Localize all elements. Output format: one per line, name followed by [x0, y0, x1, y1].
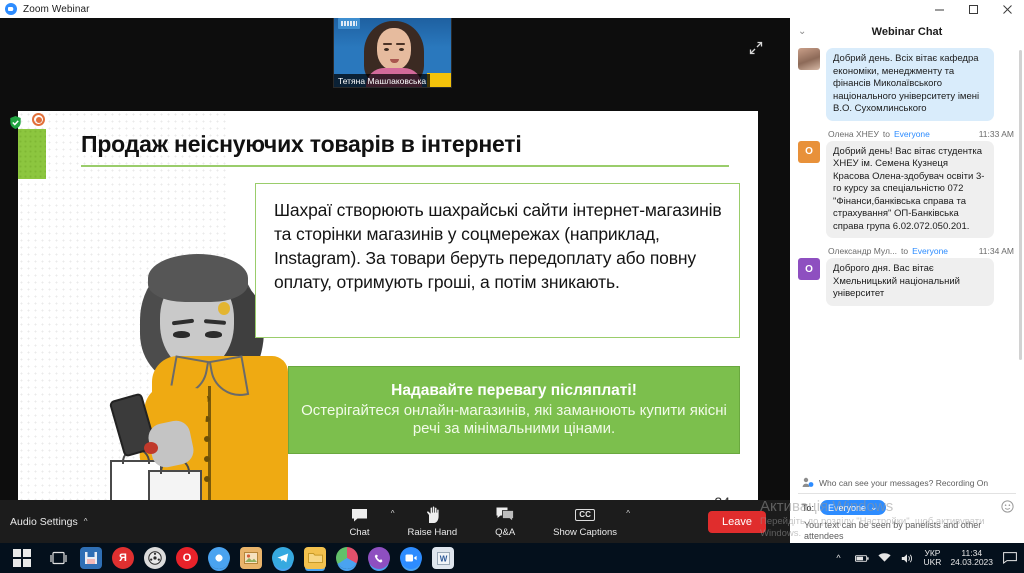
- show-captions-button[interactable]: CC Show Captions ^: [553, 506, 617, 538]
- clock[interactable]: 11:34 24.03.2023: [950, 549, 993, 568]
- chat-message: О Доброго дня. Вас вітає Хмельницький на…: [798, 258, 1014, 306]
- chat-recipient: Everyone: [912, 246, 948, 256]
- opera-browser-icon[interactable]: O: [176, 547, 198, 569]
- window-title: Zoom Webinar: [23, 4, 90, 15]
- recipient-selector[interactable]: Everyone ⌄: [820, 500, 886, 515]
- taskbar-app-icons: Я O: [48, 547, 454, 569]
- slide-body-box: Шахраї створюють шахрайські сайти інтерн…: [255, 183, 740, 338]
- chat-message: О Добрий день! Вас вітає студентка ХНЕУ …: [798, 141, 1014, 239]
- raise-hand-icon: [425, 506, 440, 525]
- avatar: О: [798, 258, 820, 280]
- close-icon[interactable]: [990, 0, 1024, 18]
- presenter-face: [377, 28, 411, 70]
- yandex-browser-icon[interactable]: Я: [112, 547, 134, 569]
- chevron-up-icon: ^: [84, 517, 88, 526]
- callout-heading: Надавайте перевагу післяплаті!: [391, 382, 637, 401]
- chevron-down-icon: ⌄: [870, 502, 878, 513]
- callout-text: Остерігайтеся онлайн-магазинів, які зама…: [299, 402, 729, 439]
- presenter-name-label: Тетяна Машлаковська: [334, 74, 430, 87]
- chevron-up-icon[interactable]: ^: [626, 509, 630, 518]
- chat-message-text: Доброго дня. Вас вітає Хмельницький наці…: [826, 258, 994, 306]
- chat-recipient-row: To: Everyone ⌄: [790, 494, 1024, 518]
- chat-bubble-icon: [351, 506, 368, 525]
- video-corner-accent: [427, 73, 451, 87]
- chat-header: ⌄ Webinar Chat: [790, 18, 1024, 46]
- volume-icon[interactable]: [901, 553, 915, 564]
- raise-hand-button[interactable]: Raise Hand: [407, 506, 457, 538]
- floppy-save-icon[interactable]: [80, 547, 102, 569]
- chat-message-meta: Олександр Мул... to Everyone 11:34 AM: [828, 246, 1014, 256]
- telegram-app-icon[interactable]: [272, 547, 294, 569]
- notification-icon[interactable]: [1002, 552, 1018, 564]
- chat-recipient: Everyone: [894, 129, 930, 139]
- chat-timestamp: 11:33 AM: [979, 129, 1014, 139]
- window-controls: [922, 0, 1024, 18]
- closed-captions-icon: CC: [575, 506, 595, 525]
- chat-timestamp: 11:34 AM: [979, 246, 1014, 256]
- chevron-down-icon[interactable]: ⌄: [798, 26, 806, 37]
- toolbar-center-group: Chat ^ Raise Hand: [337, 506, 617, 538]
- chat-to-word: to: [883, 129, 890, 139]
- zoom-webinar-window: Zoom Webinar You are viewing Тетяна Машл…: [0, 0, 1024, 573]
- qa-label: Q&A: [495, 527, 515, 538]
- maximize-icon[interactable]: [956, 0, 990, 18]
- chat-to-word: to: [901, 246, 908, 256]
- svg-text:W: W: [439, 554, 447, 563]
- corner-logo-icon: [338, 18, 360, 29]
- system-tray: ^ УКР: [832, 549, 1024, 568]
- chat-input-hint[interactable]: Your text can be seen by panelists and o…: [790, 518, 1024, 543]
- chat-button-label: Chat: [349, 527, 369, 538]
- slide-body-text: Шахраї створюють шахрайські сайти інтерн…: [274, 198, 723, 295]
- leave-button[interactable]: Leave: [708, 511, 766, 533]
- qa-bubbles-icon: [496, 506, 514, 525]
- emoji-smiley-icon[interactable]: [1001, 500, 1014, 516]
- qa-button[interactable]: Q&A: [483, 506, 527, 538]
- recording-notice-row[interactable]: Who can see your messages? Recording On: [790, 473, 1024, 493]
- meeting-toolbar: Audio Settings ^ Chat ^: [0, 500, 790, 543]
- windows-start-icon[interactable]: [0, 543, 44, 573]
- task-view-icon[interactable]: [48, 547, 70, 569]
- chat-message: Добрий день. Всіх вітає кафедра економік…: [798, 48, 1014, 121]
- avatar: О: [798, 141, 820, 163]
- chat-button[interactable]: Chat ^: [337, 506, 381, 538]
- chat-panel-title: Webinar Chat: [790, 26, 1024, 38]
- language-indicator[interactable]: УКР UKR: [924, 549, 942, 568]
- chat-scrollbar[interactable]: [1019, 50, 1022, 360]
- slide-callout-box: Надавайте перевагу післяплаті! Остерігай…: [288, 366, 740, 454]
- chevron-up-icon[interactable]: ^: [391, 509, 395, 518]
- share-secure-shield-icon: [8, 115, 23, 130]
- recipient-value: Everyone: [828, 503, 866, 513]
- raise-hand-label: Raise Hand: [407, 527, 457, 538]
- windows-taskbar: Я O: [0, 543, 1024, 573]
- chat-message-meta: Олена ХНЕУ to Everyone 11:33 AM: [828, 129, 1014, 139]
- lang-line-2: UKR: [924, 557, 942, 567]
- clock-date: 24.03.2023: [950, 557, 993, 567]
- tray-chevron-up-icon[interactable]: ^: [832, 553, 846, 563]
- webinar-chat-panel: ⌄ Webinar Chat Добрий день. Всіх вітає к…: [790, 18, 1024, 543]
- chat-message-text: Добрий день! Вас вітає студентка ХНЕУ ім…: [826, 141, 994, 239]
- zoom-logo-icon: [5, 3, 17, 15]
- window-titlebar: Zoom Webinar: [0, 0, 1024, 18]
- shared-slide: Продаж неіснуючих товарів в інтернеті: [18, 111, 758, 518]
- battery-icon[interactable]: [855, 554, 869, 563]
- avatar: [798, 48, 820, 70]
- chrome-second-icon[interactable]: [336, 547, 358, 569]
- titlebar-left: Zoom Webinar: [0, 3, 90, 15]
- slide-green-tab: [18, 129, 46, 179]
- photos-app-icon[interactable]: [240, 547, 262, 569]
- minimize-icon[interactable]: [922, 0, 956, 18]
- file-explorer-icon[interactable]: [304, 547, 326, 569]
- media-player-icon[interactable]: [144, 547, 166, 569]
- slide-title-underline: [81, 165, 729, 167]
- cc-badge: CC: [575, 509, 595, 521]
- share-recording-dot-icon: [32, 113, 45, 126]
- chat-sender-name: Олександр Мул...: [828, 246, 897, 256]
- recording-notice-text: Who can see your messages? Recording On: [819, 478, 988, 488]
- presenter-video-thumbnail[interactable]: Тетяна Машлаковська: [333, 18, 452, 88]
- zoom-app-icon[interactable]: [400, 547, 422, 569]
- who-can-see-icon: [802, 477, 814, 490]
- word-app-icon[interactable]: W: [432, 547, 454, 569]
- chat-message-list[interactable]: Добрий день. Всіх вітає кафедра економік…: [790, 46, 1024, 473]
- slide-title: Продаж неіснуючих товарів в інтернеті: [81, 131, 522, 158]
- chat-message-text: Добрий день. Всіх вітає кафедра економік…: [826, 48, 994, 121]
- fullscreen-expand-icon[interactable]: [744, 36, 768, 60]
- wifi-icon[interactable]: [878, 553, 892, 563]
- audio-settings-label: Audio Settings: [10, 516, 78, 528]
- meeting-stage: You are viewing Тетяна Машлаковська's sc…: [0, 18, 790, 543]
- chrome-browser-icon[interactable]: [208, 547, 230, 569]
- to-label: To:: [802, 503, 814, 513]
- viber-app-icon[interactable]: [368, 547, 390, 569]
- show-captions-label: Show Captions: [553, 527, 617, 538]
- audio-settings-button[interactable]: Audio Settings ^: [10, 516, 87, 528]
- chat-sender-name: Олена ХНЕУ: [828, 129, 879, 139]
